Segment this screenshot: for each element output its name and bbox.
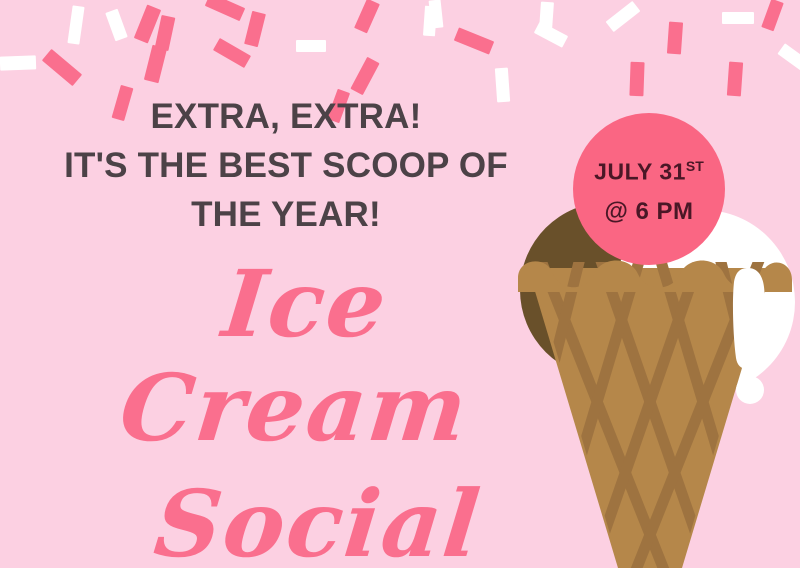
ice-cream-social-poster: EXTRA, EXTRA! IT'S THE BEST SCOOP OF THE… xyxy=(0,0,800,568)
page-title: EXTRA, EXTRA! IT'S THE BEST SCOOP OF THE… xyxy=(16,92,556,239)
sprinkle-22 xyxy=(667,22,683,55)
sprinkle-27 xyxy=(629,62,644,96)
event-name-wordmark: Ice Cream Social xyxy=(40,252,560,568)
sprinkle-15 xyxy=(244,11,266,47)
sprinkle-9 xyxy=(155,15,176,51)
sprinkle-3 xyxy=(134,5,161,44)
sprinkle-26 xyxy=(761,0,783,31)
sprinkle-11 xyxy=(354,0,380,33)
sprinkle-24 xyxy=(727,62,743,97)
sprinkle-0 xyxy=(0,55,36,70)
headline-line-1: EXTRA, EXTRA! xyxy=(16,92,556,141)
sprinkle-20 xyxy=(606,1,641,32)
badge-day-label: JULY 31 xyxy=(594,159,686,185)
badge-date-text: JULY 31ST xyxy=(594,153,704,185)
sprinkle-23 xyxy=(722,12,754,24)
sprinkle-4 xyxy=(144,45,167,84)
sprinkle-5 xyxy=(105,9,127,42)
vanilla-drip-icon xyxy=(733,268,765,404)
sprinkle-16 xyxy=(454,27,494,54)
sprinkle-19 xyxy=(534,21,568,48)
sprinkle-7 xyxy=(213,38,251,68)
sprinkle-21 xyxy=(539,2,554,31)
date-time-badge: JULY 31ST @ 6 PM xyxy=(573,113,725,265)
sprinkle-1 xyxy=(42,49,82,86)
sprinkle-12 xyxy=(423,6,437,37)
sprinkle-10 xyxy=(296,40,326,52)
sprinkle-25 xyxy=(777,43,800,74)
sprinkle-6 xyxy=(205,0,245,21)
headline-line-3: THE YEAR! xyxy=(16,190,556,239)
headline-line-2: IT'S THE BEST SCOOP OF xyxy=(16,141,556,190)
badge-ordinal-suffix: ST xyxy=(686,158,704,174)
sprinkle-17 xyxy=(429,0,444,29)
script-title-line-1: Ice Cream xyxy=(29,252,571,460)
script-title-line-2: Social xyxy=(71,472,566,568)
sprinkle-13 xyxy=(350,57,379,95)
sprinkle-2 xyxy=(67,5,84,44)
badge-time-label: @ 6 PM xyxy=(604,199,693,225)
